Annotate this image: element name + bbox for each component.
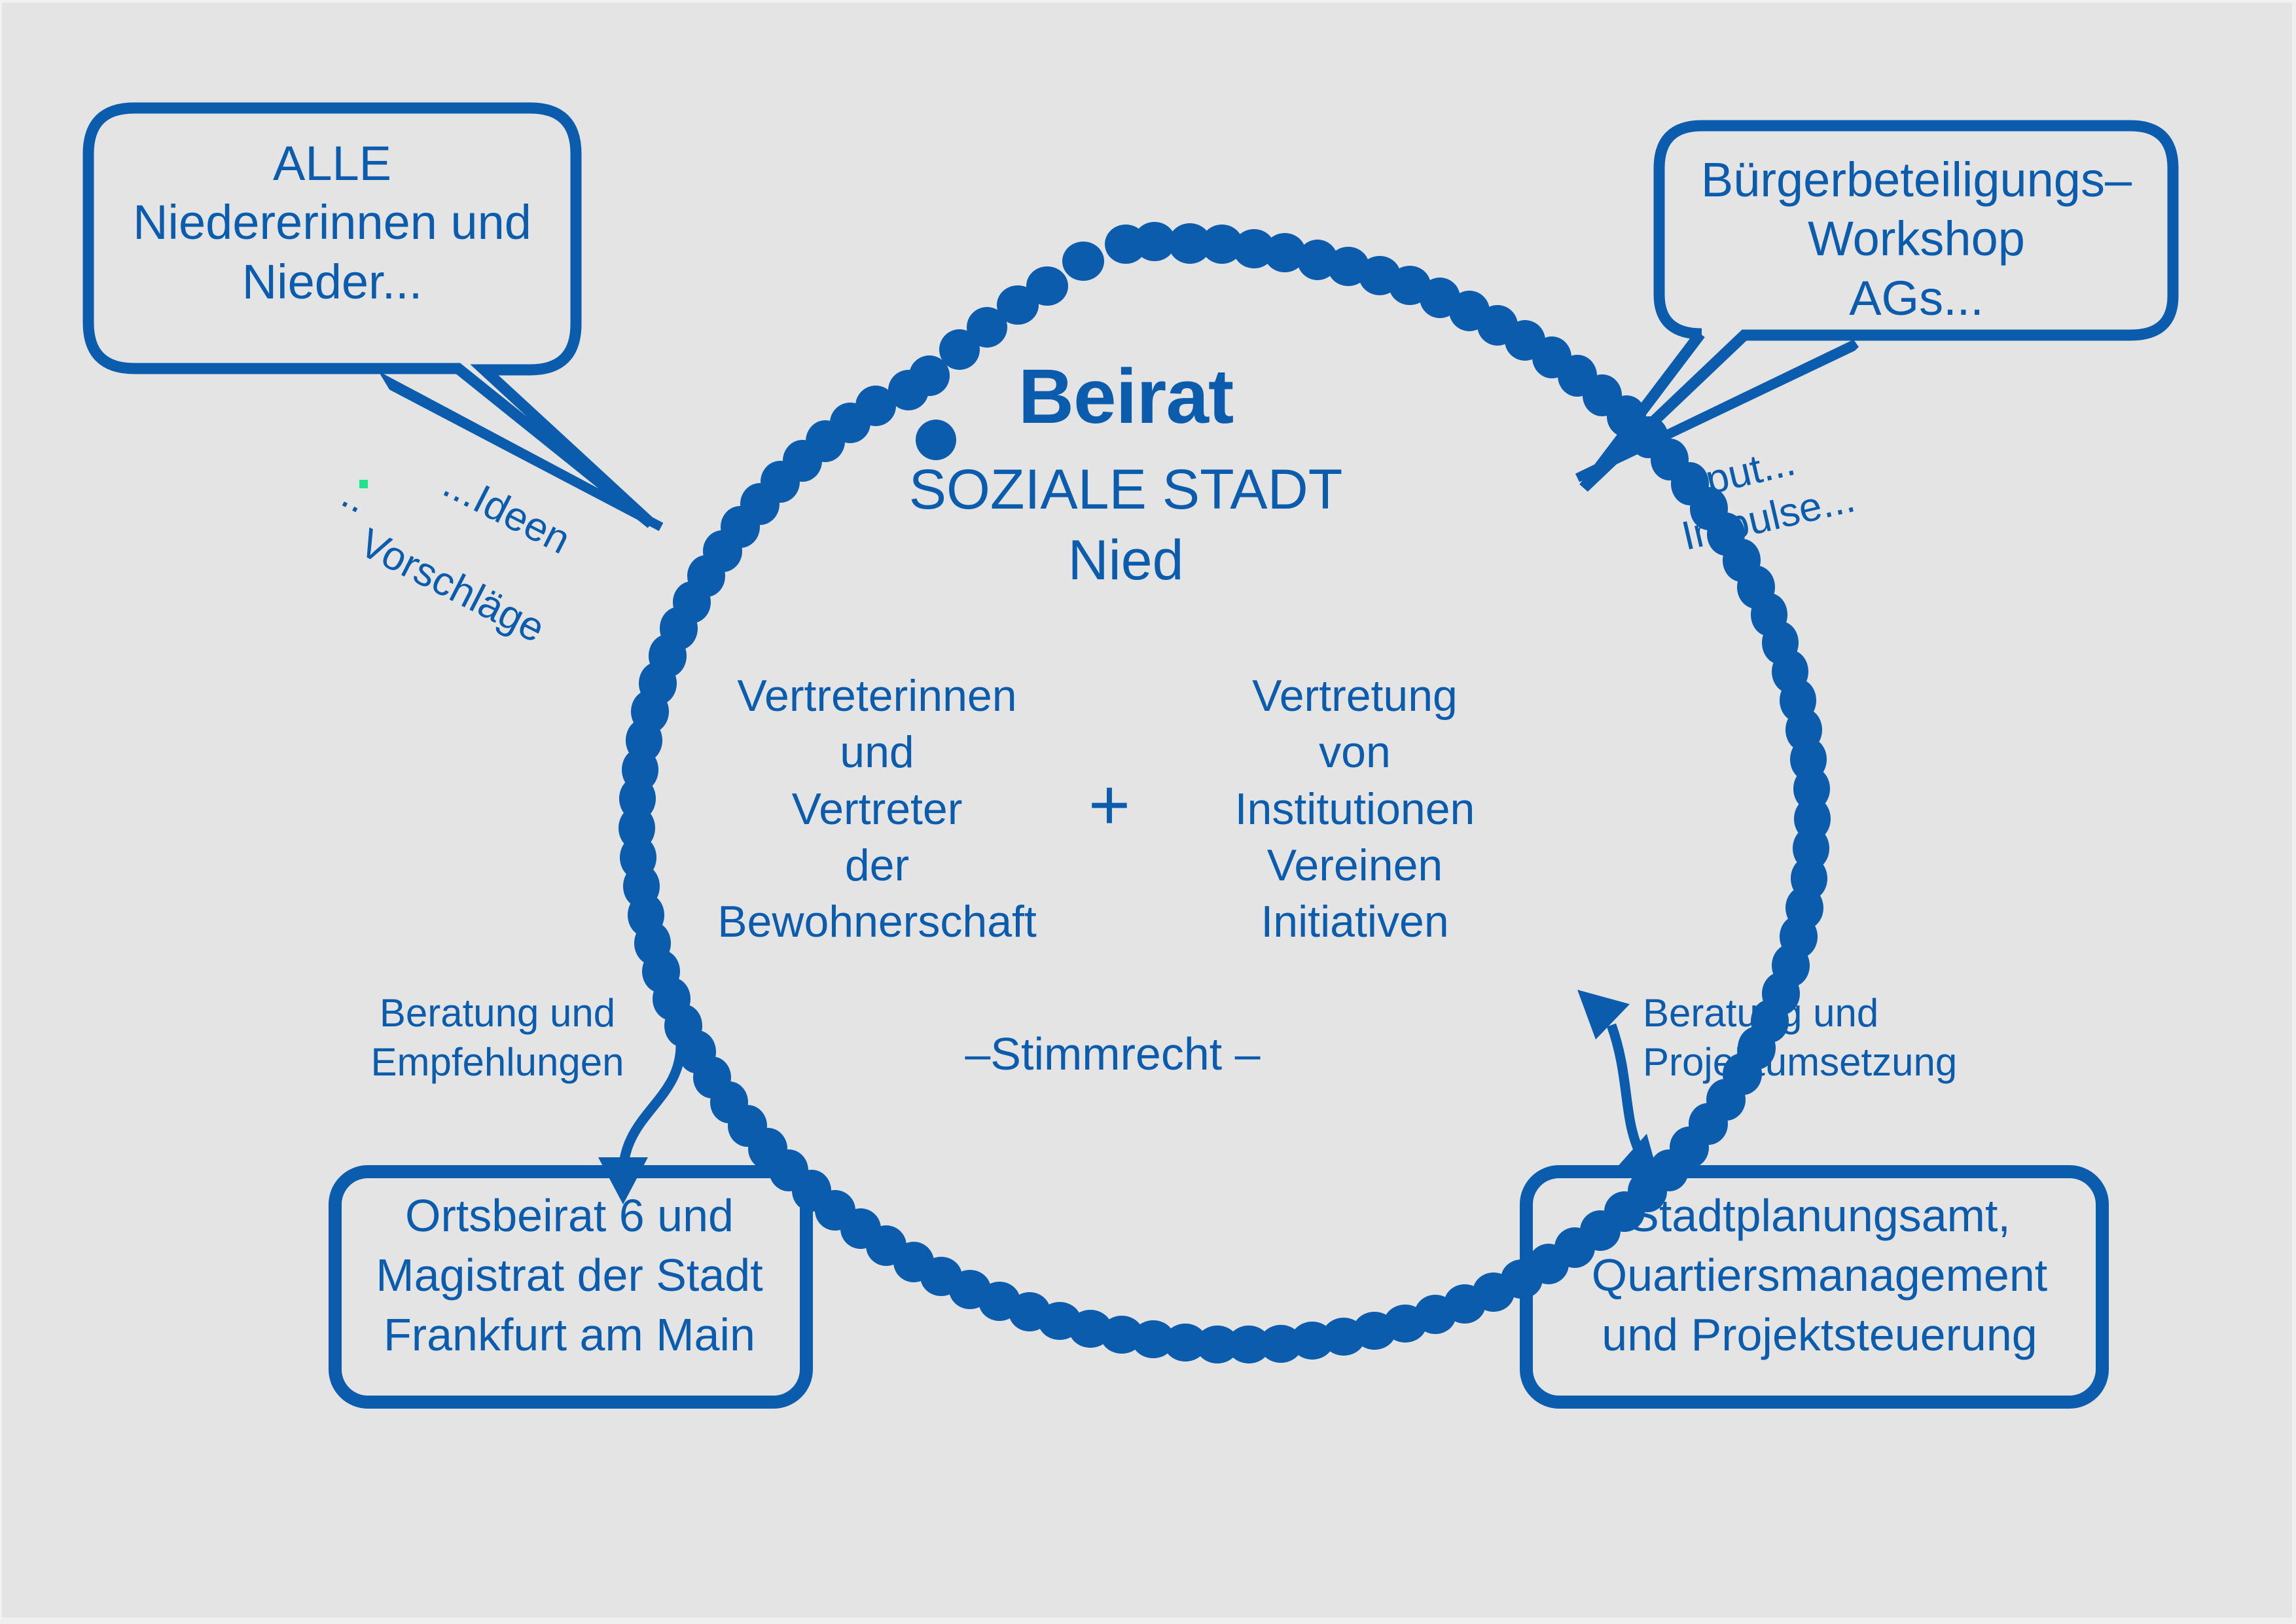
subtitle-nied: Nied — [720, 529, 1532, 592]
label-beratung-empfehlungen: Beratung undEmpfehlungen — [347, 988, 648, 1087]
bubble-top-right-line3: AGs... — [1668, 269, 2165, 328]
center-left-column: VertreterinnenundVertreterderBewohnersch… — [668, 668, 1086, 950]
plus-sign: + — [1060, 769, 1158, 841]
bubble-top-left-line2: Niedererinnen und — [98, 193, 566, 252]
box-bottom-right-text: Stadtplanungsamt,Quartiersmanagementund … — [1525, 1186, 2114, 1365]
diagram-canvas: ALLE Niedererinnen und Nieder... Bürgerb… — [0, 0, 2296, 1624]
bubble-top-left-text: ALLE Niedererinnen und Nieder... — [98, 134, 566, 312]
stimmrecht-note: –Stimmrecht – — [851, 1028, 1374, 1080]
bubble-top-left-line1: ALLE — [98, 134, 566, 193]
bubble-top-right-line2: Workshop — [1668, 209, 2165, 268]
box-bottom-left-text: Ortsbeirat 6 undMagistrat der StadtFrank… — [334, 1186, 805, 1365]
bubble-top-right-text: Bürgerbeteiligungs– Workshop AGs... — [1668, 151, 2165, 328]
center-right-column: VertretungvonInstitutionenVereinenInitia… — [1172, 668, 1538, 950]
page-title: Beirat — [720, 353, 1532, 440]
subtitle-soziale-stadt: SOZIALE STADT — [720, 458, 1532, 521]
bubble-top-left-line3: Nieder... — [98, 253, 566, 312]
bubble-top-right-line1: Bürgerbeteiligungs– — [1668, 151, 2165, 209]
label-beratung-projektumsetzung: Beratung undProjektumsetzung — [1643, 988, 1983, 1087]
green-speck-icon — [359, 480, 368, 488]
